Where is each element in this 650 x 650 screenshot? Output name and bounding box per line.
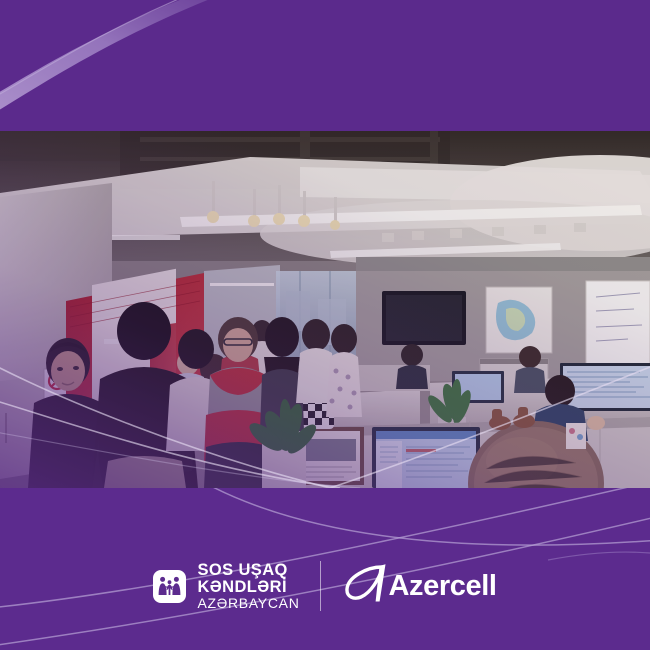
azercell-alpha-glyph [341, 561, 391, 607]
sos-line-1: SOS UŞAQ [197, 562, 299, 579]
sos-logo-text: SOS UŞAQ KƏNDLƏRİ AZƏRBAYCAN [197, 562, 299, 610]
azercell-wordmark: Azercell [389, 570, 497, 603]
logo-divider [320, 561, 321, 611]
poster-root: SOS UŞAQ KƏNDLƏRİ AZƏRBAYCAN Azercell [0, 0, 650, 650]
azercell-logo[interactable]: Azercell [341, 561, 497, 612]
top-purple-banner [0, 0, 650, 131]
sos-childrens-villages-logo[interactable]: SOS UŞAQ KƏNDLƏRİ AZƏRBAYCAN [153, 562, 299, 610]
top-banner-arc-decor [0, 0, 650, 131]
sos-children-family-icon [153, 570, 186, 603]
sos-line-2: KƏNDLƏRİ [197, 579, 299, 596]
sos-family-figures-icon [157, 575, 182, 597]
office-visit-photo [0, 131, 650, 488]
logo-row: SOS UŞAQ KƏNDLƏRİ AZƏRBAYCAN Azercell [0, 552, 650, 620]
azercell-alpha-swoosh-icon [341, 561, 391, 612]
photo-artwork [0, 131, 650, 488]
sos-line-3: AZƏRBAYCAN [197, 596, 299, 610]
